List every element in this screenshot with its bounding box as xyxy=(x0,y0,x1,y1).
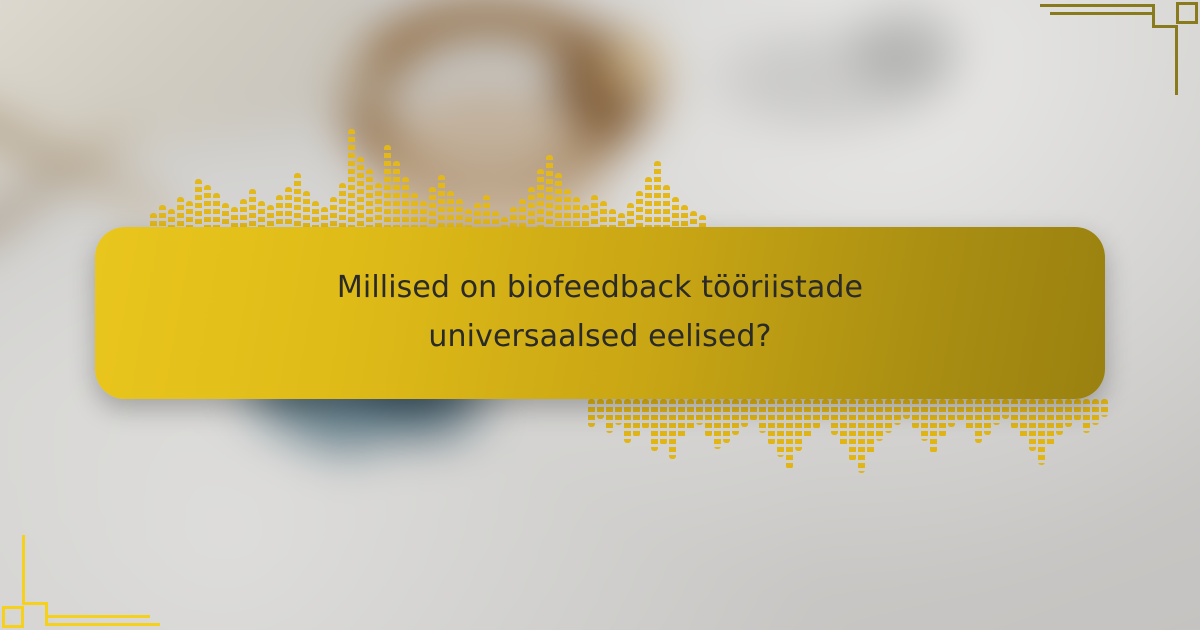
waveform-bar xyxy=(1092,399,1099,425)
waveform-bar xyxy=(723,399,730,443)
waveform-bar xyxy=(858,399,865,473)
waveform-bar xyxy=(564,189,571,231)
waveform-bar xyxy=(777,399,784,457)
ring-tip xyxy=(592,32,670,98)
bracket-line-vertical-short xyxy=(45,602,48,626)
waveform-bar xyxy=(1047,399,1054,447)
waveform-bar xyxy=(276,195,283,231)
waveform-bar xyxy=(894,399,901,425)
waveform-bar xyxy=(588,399,595,427)
waveform-bar xyxy=(903,399,910,419)
waveform-bar xyxy=(939,399,946,437)
background-smudge-right-2 xyxy=(840,0,970,100)
waveform-bar xyxy=(831,399,838,435)
waveform-bar xyxy=(591,195,598,231)
waveform-bar xyxy=(213,193,220,231)
waveform-bar xyxy=(840,399,847,447)
waveform-bottom xyxy=(588,399,1108,519)
waveform-bar xyxy=(606,399,613,433)
waveform-bar xyxy=(948,399,955,427)
waveform-bar xyxy=(483,195,490,231)
corner-bracket-top-right xyxy=(1040,0,1200,96)
waveform-bar xyxy=(975,399,982,443)
waveform-bar xyxy=(660,399,667,445)
waveform-bar xyxy=(984,399,991,435)
waveform-bar xyxy=(876,399,883,441)
waveform-bar xyxy=(1002,399,1009,419)
waveform-bar xyxy=(912,399,919,429)
question-text: Millised on biofeedback tööriistade univ… xyxy=(290,264,910,361)
waveform-bar xyxy=(678,399,685,439)
waveform-bar xyxy=(303,191,310,231)
waveform-bar xyxy=(705,399,712,437)
bracket-square-icon xyxy=(1176,2,1198,24)
bracket-line-horizontal-inner xyxy=(48,615,150,618)
waveform-bar xyxy=(249,189,256,231)
waveform-bar xyxy=(1074,399,1081,421)
bracket-line-joint xyxy=(22,602,48,605)
question-card: Millised on biofeedback tööriistade univ… xyxy=(95,227,1105,399)
waveform-bar xyxy=(339,183,346,231)
waveform-bar xyxy=(822,399,829,423)
waveform-bar xyxy=(759,399,766,433)
bracket-line-vertical-long xyxy=(1175,25,1178,95)
waveform-bar xyxy=(1011,399,1018,429)
bracket-line-horizontal-outer xyxy=(48,623,160,626)
waveform-bar xyxy=(348,129,355,231)
waveform-bar xyxy=(696,399,703,425)
waveform-bar xyxy=(768,399,775,445)
waveform-bar xyxy=(429,187,436,231)
waveform-bar xyxy=(921,399,928,441)
waveform-bar xyxy=(528,187,535,231)
waveform-bar xyxy=(447,191,454,231)
waveform-bar xyxy=(1056,399,1063,435)
waveform-bar xyxy=(663,185,670,231)
waveform-bar xyxy=(1101,399,1108,417)
waveform-bar xyxy=(966,399,973,431)
waveform-bar xyxy=(993,399,1000,425)
waveform-bar xyxy=(654,161,661,231)
waveform-bar xyxy=(204,185,211,231)
waveform-bar xyxy=(750,399,757,421)
waveform-bar xyxy=(645,177,652,231)
bracket-line-horizontal-outer xyxy=(1040,4,1152,7)
waveform-bar xyxy=(741,399,748,427)
waveform-bar xyxy=(1083,399,1090,433)
waveform-bar xyxy=(615,399,622,425)
corner-bracket-bottom-left xyxy=(0,534,160,630)
waveform-bar xyxy=(330,197,337,231)
waveform-bar xyxy=(849,399,856,461)
bracket-line-vertical-long xyxy=(22,535,25,605)
waveform-bar xyxy=(885,399,892,433)
waveform-bar xyxy=(804,399,811,439)
waveform-bar xyxy=(366,169,373,231)
waveform-bar xyxy=(1038,399,1045,465)
waveform-bar xyxy=(867,399,874,455)
waveform-bar xyxy=(285,187,292,231)
waveform-bar xyxy=(786,399,793,469)
waveform-bar xyxy=(195,179,202,231)
waveform-bar xyxy=(177,197,184,231)
waveform-top xyxy=(150,121,706,231)
waveform-bar xyxy=(687,399,694,431)
waveform-bar xyxy=(573,197,580,231)
waveform-bar xyxy=(732,399,739,435)
bracket-square-icon xyxy=(2,606,24,628)
waveform-bar xyxy=(813,399,820,429)
waveform-bar xyxy=(357,157,364,231)
waveform-bar xyxy=(438,175,445,231)
waveform-bar xyxy=(393,161,400,231)
waveform-bar xyxy=(402,177,409,231)
waveform-bar xyxy=(555,173,562,231)
waveform-bar xyxy=(1065,399,1072,427)
bracket-line-horizontal-inner xyxy=(1050,12,1152,15)
waveform-bar xyxy=(672,197,679,231)
waveform-bar xyxy=(669,399,676,459)
waveform-bar xyxy=(546,155,553,231)
waveform-bar xyxy=(795,399,802,451)
waveform-bar xyxy=(384,145,391,231)
waveform-bar xyxy=(714,399,721,449)
waveform-bar xyxy=(624,399,631,443)
waveform-bar xyxy=(537,169,544,231)
waveform-bar xyxy=(633,399,640,437)
waveform-bar xyxy=(642,399,649,429)
waveform-bar xyxy=(1020,399,1027,439)
waveform-bar xyxy=(294,173,301,231)
waveform-bar xyxy=(597,399,604,419)
waveform-bar xyxy=(636,191,643,231)
waveform-bar xyxy=(1029,399,1036,451)
waveform-bar xyxy=(930,399,937,453)
waveform-bar xyxy=(651,399,658,451)
waveform-bar xyxy=(375,183,382,231)
poster-canvas: Millised on biofeedback tööriistade univ… xyxy=(0,0,1200,630)
waveform-bar xyxy=(411,193,418,231)
waveform-bar xyxy=(957,399,964,421)
